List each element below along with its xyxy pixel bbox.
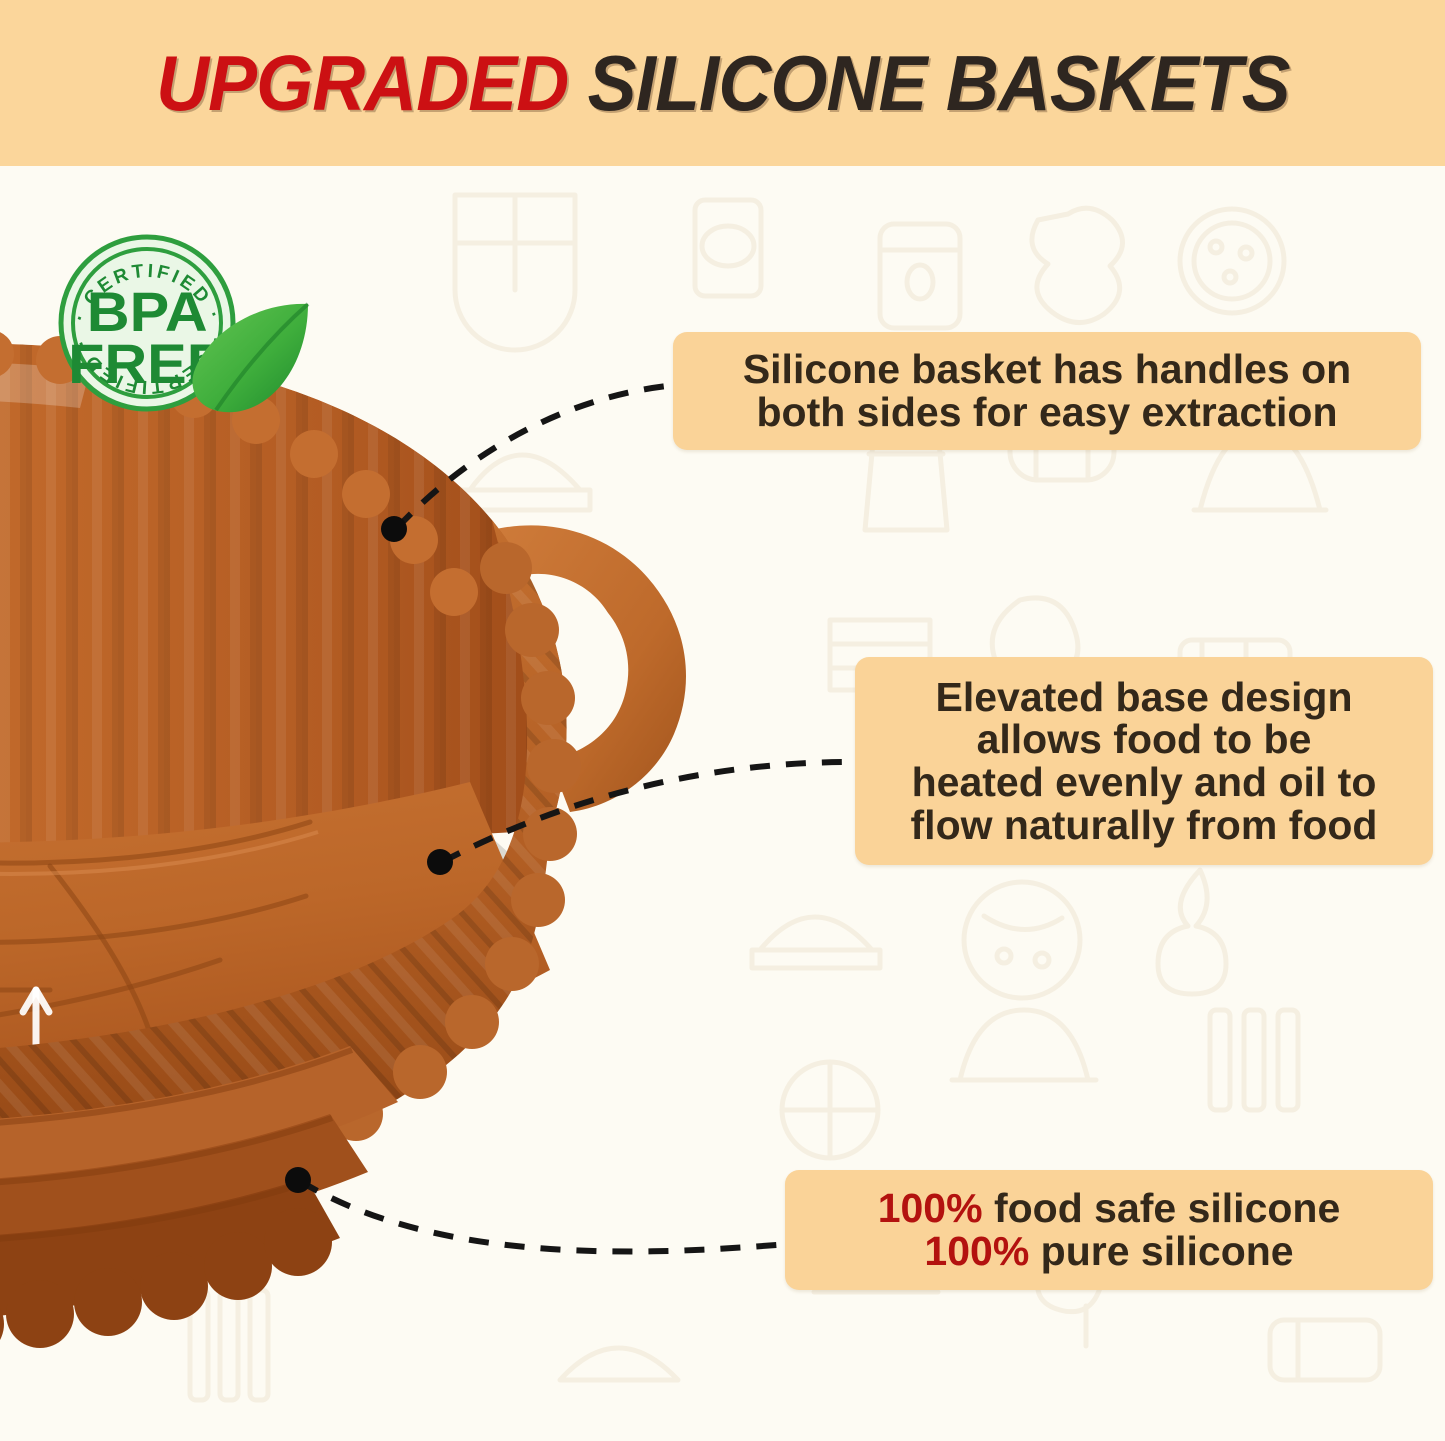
elevated-base-detail [0, 810, 318, 1254]
callout-food-safe-accent-1: 100% [878, 1185, 983, 1231]
callout-food-safe-accent-2: 100% [924, 1228, 1029, 1274]
bottom-corrugation [0, 1046, 398, 1350]
callout-food-safe-line-2: 100% pure silicone [924, 1230, 1293, 1273]
callout-food-safe-line-1: 100% food safe silicone [878, 1187, 1341, 1230]
infographic-page: · CERTIFIED · · CERTIFIED · BPA FREE [0, 0, 1445, 1441]
title-word-upgraded: UPGRADED [156, 39, 568, 127]
callout-elevated-base-line-4: flow naturally from food [911, 804, 1378, 847]
callout-elevated-base: Elevated base design allows food to be h… [855, 657, 1433, 865]
leader-dot-food-safe [285, 1167, 311, 1193]
callout-food-safe-rest-1: food safe silicone [983, 1185, 1341, 1231]
scalloped-rim [259, 542, 581, 1175]
header-banner: UPGRADED SILICONE BASKETS [0, 0, 1445, 166]
callout-food-safe: 100% food safe silicone 100% pure silico… [785, 1170, 1433, 1290]
airflow-arrows [0, 926, 220, 1254]
silicone-basket-illustration [0, 330, 920, 1350]
leader-line-elevated-base [442, 762, 852, 862]
callout-elevated-base-line-1: Elevated base design [935, 676, 1352, 719]
basket-handle [492, 525, 686, 812]
leader-line-food-safe [300, 1181, 788, 1252]
callout-food-safe-rest-2: pure silicone [1029, 1228, 1293, 1274]
leader-line-handles [397, 385, 676, 528]
callout-handles: Silicone basket has handles on both side… [673, 332, 1421, 450]
leaf-icon [186, 300, 316, 415]
basket-ribbed-skirt [0, 520, 567, 1238]
leader-dot-handles [381, 516, 407, 542]
title-word-silicone-baskets: SILICONE BASKETS [587, 39, 1289, 127]
callout-elevated-base-line-2: allows food to be [977, 718, 1312, 761]
callout-handles-line-1: Silicone basket has handles on [743, 348, 1351, 391]
callout-elevated-base-line-3: heated evenly and oil to [912, 761, 1377, 804]
leader-dot-elevated-base [427, 849, 453, 875]
page-title: UPGRADED SILICONE BASKETS [156, 38, 1289, 129]
callout-handles-line-2: both sides for easy extraction [756, 391, 1337, 434]
